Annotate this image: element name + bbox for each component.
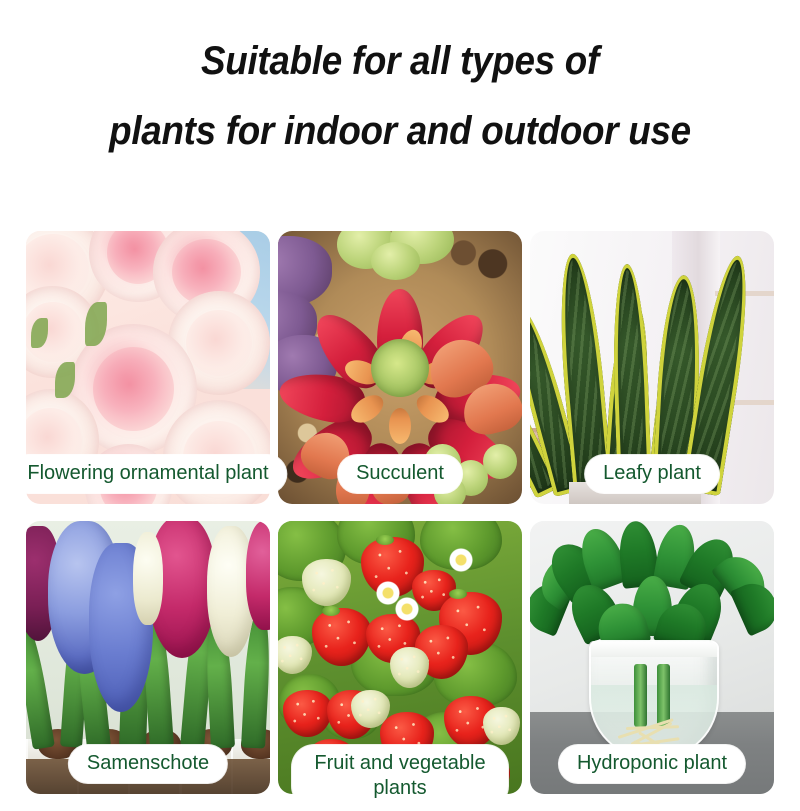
glass-vase	[589, 640, 720, 759]
tile-label-fruit-and-vegetable-plants: Fruit and vegetable plants	[292, 745, 508, 808]
tile-flowering-ornamental-plant[interactable]: Flowering ornamental plant	[26, 231, 270, 521]
page-title-line-1: Suitable for all types of	[201, 39, 599, 83]
tile-label-succulent: Succulent	[338, 455, 462, 493]
tile-hydroponic-plant[interactable]: Hydroponic plant	[530, 521, 774, 811]
tile-label-samenschote: Samenschote	[69, 745, 227, 783]
tile-leafy-plant[interactable]: Leafy plant	[530, 231, 774, 521]
tile-label-leafy-plant: Leafy plant	[585, 455, 719, 493]
tile-label-flowering-ornamental-plant: Flowering ornamental plant	[9, 455, 286, 493]
page-title-line-2: plants for indoor and outdoor use	[32, 96, 768, 166]
tile-label-hydroponic-plant: Hydroponic plant	[559, 745, 745, 783]
succulent-center	[371, 339, 429, 397]
tile-samenschote[interactable]: Samenschote	[26, 521, 270, 811]
tile-fruit-and-vegetable-plants[interactable]: Fruit and vegetable plants	[278, 521, 522, 811]
page-title: Suitable for all types of plants for ind…	[32, 26, 768, 166]
plant-type-grid: Flowering ornamental plant	[26, 231, 774, 811]
tile-succulent[interactable]: Succulent	[278, 231, 522, 521]
